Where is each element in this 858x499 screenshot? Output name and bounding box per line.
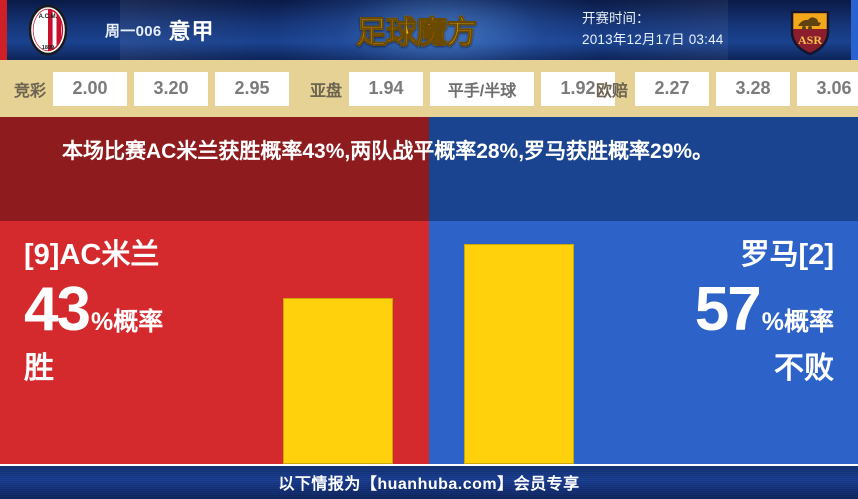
away-probability-bar: [464, 244, 574, 464]
odds-cell-draw[interactable]: 3.28: [716, 72, 790, 106]
summary-band-red-half: [0, 117, 429, 221]
odds-cell-handicap[interactable]: 平手/半球: [430, 72, 534, 106]
home-team-name: [9]AC米兰: [24, 233, 274, 277]
svg-text:ASR: ASR: [798, 33, 822, 47]
summary-band-blue-half: [429, 117, 858, 221]
odds-cell-home[interactable]: 2.27: [635, 72, 709, 106]
kickoff-value: 2013年12月17日 03:44: [582, 29, 772, 50]
odds-group-label: 亚盘: [310, 77, 342, 101]
home-team-block: [9]AC米兰 43 %概率 胜: [24, 233, 274, 393]
odds-cell-home[interactable]: 2.00: [53, 72, 127, 106]
summary-band: 本场比赛AC米兰获胜概率43%,两队战平概率28%,罗马获胜概率29%。: [0, 117, 858, 221]
odds-cell-draw[interactable]: 3.20: [134, 72, 208, 106]
away-team-block: 罗马[2] 57 %概率 不败: [584, 233, 834, 393]
as-roma-crest-icon: ASR: [784, 4, 836, 56]
home-probability-bar: [283, 298, 393, 464]
odds-group-oupei: 欧赔 2.27 3.28 3.06: [598, 60, 858, 117]
brand-logo-text: 足球魔方: [356, 7, 476, 52]
brand-logo: 足球魔方: [336, 6, 496, 52]
ac-milan-crest-icon: A.C.M. 1899: [22, 4, 74, 56]
away-result-label: 不败: [584, 345, 834, 393]
footer-bar: 以下情报为【huanhuba.com】会员专享: [0, 464, 858, 499]
kickoff-label: 开赛时间：: [582, 8, 772, 29]
away-percent-unit: %概率: [762, 310, 834, 335]
kickoff-time: 开赛时间： 2013年12月17日 03:44: [582, 8, 772, 50]
footer-text: 以下情报为【huanhuba.com】会员专享: [0, 464, 858, 499]
svg-text:1899: 1899: [42, 45, 54, 51]
header-bar: A.C.M. 1899 ASR 周一006 意甲 足球魔方 开赛时间：: [0, 0, 858, 60]
away-percent-row: 57 %概率: [584, 279, 834, 341]
odds-group-label: 竞彩: [14, 77, 46, 101]
odds-cell-away[interactable]: 3.06: [797, 72, 858, 106]
league-name: 意甲: [169, 14, 215, 46]
match-number: 周一006: [105, 20, 162, 41]
odds-cell-home[interactable]: 1.94: [349, 72, 423, 106]
odds-cell-away[interactable]: 2.95: [215, 72, 289, 106]
away-percent-value: 57: [695, 279, 760, 341]
odds-bar: 竞彩 2.00 3.20 2.95 亚盘 1.94 平手/半球 1.92 欧赔 …: [0, 60, 858, 117]
home-percent-unit: %概率: [91, 310, 163, 335]
match-title: 周一006 意甲: [105, 12, 215, 48]
header-edge-stripe-red: [0, 0, 7, 60]
odds-group-jingcai: 竞彩 2.00 3.20 2.95: [0, 60, 296, 117]
home-percent-value: 43: [24, 279, 89, 341]
home-result-label: 胜: [24, 345, 274, 393]
away-team-name: 罗马[2]: [584, 233, 834, 277]
match-probability-infographic: A.C.M. 1899 ASR 周一006 意甲 足球魔方 开赛时间：: [0, 0, 858, 499]
home-percent-row: 43 %概率: [24, 279, 274, 341]
header-edge-stripe-blue: [851, 0, 858, 60]
probability-chart: [9]AC米兰 43 %概率 胜 罗马[2] 57 %概率 不败: [0, 221, 858, 464]
odds-group-label: 欧赔: [596, 77, 628, 101]
odds-group-yapan: 亚盘 1.94 平手/半球 1.92: [296, 60, 598, 117]
svg-text:A.C.M.: A.C.M.: [39, 14, 58, 20]
summary-text: 本场比赛AC米兰获胜概率43%,两队战平概率28%,罗马获胜概率29%。: [62, 135, 802, 169]
